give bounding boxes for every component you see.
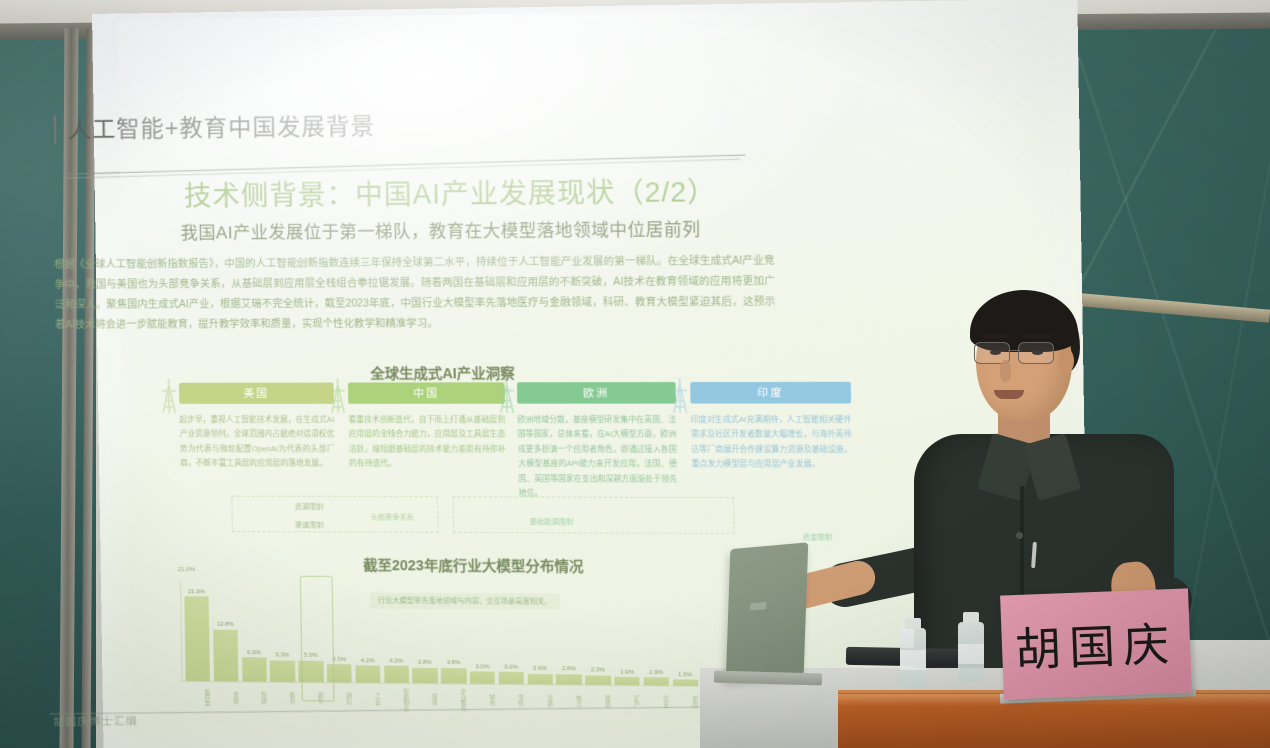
slide-paragraph: 根据《全球人工智能创新指数报告》，中国的人工智能创新指数连续三年保持全球第二水平… <box>54 251 776 335</box>
chart-x-tick: 矿产 <box>614 688 640 715</box>
slide-kicker-block: 人工智能+教育中国发展背景 <box>54 107 764 144</box>
chart-bar-value: 3.8% <box>447 660 461 666</box>
chart-bar-value: 4.2% <box>389 658 403 664</box>
chart-bar <box>643 677 669 685</box>
chart-x-tick: 智能制造 <box>384 686 410 713</box>
country-name: 欧洲 <box>583 385 609 400</box>
connector-label-2: 头部竞争关系 <box>370 512 413 522</box>
presenter-name-card: 胡国庆 <box>1000 588 1192 699</box>
chart-title: 截至2023年底行业大模型分布情况 <box>363 555 584 577</box>
connector-label-3: 基础能源限制 <box>529 517 573 527</box>
chart-highlight-box <box>300 576 335 702</box>
country-name-bar: 欧洲 <box>517 382 676 404</box>
chart-annotation: 行业大模型率先落地领域与内容、交互场景高度相关。 <box>370 592 560 610</box>
chart-bar <box>213 630 239 682</box>
glasses-icon <box>972 342 1068 364</box>
country-name: 美国 <box>243 386 269 401</box>
connector-box-right <box>453 496 735 534</box>
country-description: 印度对生成式AI充满期待，人工智能相关硬件需求及社区开发者数量大幅增长，与海外英… <box>691 413 853 473</box>
chart-bar-value: 6.0% <box>247 650 261 656</box>
chart-x-tick: 金融 <box>214 684 239 710</box>
connector-label-4: 资金限制 <box>802 532 832 542</box>
connector-label-1: 渠道限制 <box>295 520 324 530</box>
chart-bar <box>614 677 640 685</box>
chart-bar-column: 5.3% <box>269 581 295 682</box>
chart-x-tick: 工业 <box>356 686 381 713</box>
presentation-slide: 人工智能+教育中国发展背景 技术侧背景：中国AI产业发展现状（2/2） 我国AI… <box>0 0 998 746</box>
slide-footer: 胡国庆博士汇编 <box>53 713 138 730</box>
shirt-button <box>1016 532 1023 539</box>
slide-kicker: 人工智能+教育中国发展背景 <box>54 107 764 144</box>
country-name: 中国 <box>413 385 439 400</box>
chart-x-tick: 医疗类 <box>186 684 211 710</box>
chart-bar <box>672 679 698 685</box>
country-name-bar: 中国 <box>348 382 505 404</box>
chart-bar-value: 2.6% <box>533 666 547 672</box>
chart-bar <box>470 671 495 683</box>
tower-icon <box>671 378 688 413</box>
chart-bar <box>585 675 611 685</box>
presenter-brow-right <box>1026 334 1052 338</box>
chart-bar-value: 12.8% <box>217 622 234 628</box>
chart-bar <box>184 596 210 681</box>
connector-label-0: 资源限制 <box>295 502 324 512</box>
country-name-bar: 美国 <box>179 383 334 404</box>
presenter-nose <box>1000 360 1011 382</box>
country-panel-europe: 欧洲 欧洲地域分散，基座模型研发集中在英国、法国等国家，总体来看，在AI大模型方… <box>517 382 677 501</box>
chart-x-tick: 科研 <box>242 684 267 711</box>
country-panel-china: 中国 看重技术创新迭代，自下而上打通从基础层到应用层的全栈合力能力，应用层及工具… <box>348 382 506 471</box>
chart-y-top-label: 21.0% <box>178 567 195 573</box>
chart-bar-value: 1.9% <box>620 670 634 676</box>
presenter-name: 胡国庆 <box>1014 608 1178 680</box>
chart-x-tick: 农业 <box>643 688 669 715</box>
chart-bar <box>270 660 295 682</box>
chart-x-tick: 安防 <box>673 689 699 716</box>
country-description: 看重技术创新迭代，自下而上打通从基础层到应用层的全栈合力能力，应用层及工具层生态… <box>348 413 506 472</box>
country-panel-usa: 美国 起步早，重视人工智能技术发展，在生成式AI产业资源领列，全球范围内占据绝对… <box>179 383 335 472</box>
chart-bar-column: 1.9% <box>642 583 669 686</box>
country-description: 起步早，重视人工智能技术发展，在生成式AI产业资源领列，全球范围内占据绝对话语权… <box>179 413 335 471</box>
chart-x-tick: 教育 <box>270 685 295 712</box>
chart-x-tick: 交通 <box>528 687 554 714</box>
chart-bar-value: 3.0% <box>504 664 518 670</box>
chart-bar <box>527 674 553 685</box>
tower-icon <box>498 378 515 413</box>
chart-bar-column: 2.3% <box>584 582 611 684</box>
tower-icon <box>161 379 178 413</box>
chart-bar <box>355 665 380 682</box>
chart-x-tick: 电力 <box>556 687 582 714</box>
panel-section-title: 全球生成式AI产业洞察 <box>370 363 515 384</box>
tower-icon <box>329 378 346 412</box>
lecture-photo: 人工智能+教育中国发展背景 技术侧背景：中国AI产业发展现状（2/2） 我国AI… <box>0 0 1270 748</box>
chart-bar-value: 3.8% <box>418 660 432 666</box>
chart-bar-value: 1.9% <box>649 670 663 676</box>
slide-title: 技术侧背景：中国AI产业发展现状（2/2） <box>184 169 717 213</box>
chart-bar <box>242 657 267 681</box>
chart-bar-column: 21.0% <box>184 580 210 681</box>
presenter-brow-left <box>984 334 1010 338</box>
country-description: 欧洲地域分散，基座模型研发集中在英国、法国等国家，总体来看，在AI大模型方面，欧… <box>517 413 677 502</box>
chart-bar-column: 1.5% <box>671 583 698 686</box>
chart-bar-column: 12.8% <box>212 580 238 681</box>
chart-bar-value: 1.5% <box>678 672 692 678</box>
chart-bar-value: 5.3% <box>275 653 289 659</box>
chart-bar <box>412 668 437 684</box>
chart-bar-value: 2.3% <box>591 668 605 674</box>
chart-bar-value: 3.0% <box>475 664 489 670</box>
chart-bar-value: 4.5% <box>332 656 346 662</box>
chart-x-tick: 能源 <box>585 688 611 715</box>
laptop-icon[interactable] <box>726 542 809 681</box>
water-bottle <box>958 622 984 682</box>
country-name-bar: 印度 <box>690 382 851 404</box>
chart-bar <box>499 672 524 684</box>
chart-bar-column: 6.0% <box>240 580 266 681</box>
water-bottle <box>900 628 926 688</box>
country-panel-india: 印度 印度对生成式AI充满期待，人工智能相关硬件需求及社区开发者数量大幅增长，与… <box>690 382 852 472</box>
chart-bar-value: 21.0% <box>188 589 205 595</box>
slide-subtitle: 我国AI产业发展位于第一梯队，教育在大模型落地领域中位居前列 <box>180 215 700 244</box>
chart-bar <box>384 666 409 683</box>
country-name: 印度 <box>757 385 784 400</box>
presenter-mouth <box>994 390 1024 399</box>
country-panels: 资源限制 渠道限制 头部竞争关系 基础能源限制 资金限制 美国 起步早，重视人工… <box>179 382 909 537</box>
chart-bar-value: 4.2% <box>361 658 375 664</box>
chart-bar <box>441 668 466 684</box>
chart-y-axis <box>180 581 183 682</box>
chart-bar <box>556 674 582 685</box>
chart-bar-column: 1.9% <box>613 583 640 686</box>
chart-bar-value: 2.6% <box>562 666 576 672</box>
